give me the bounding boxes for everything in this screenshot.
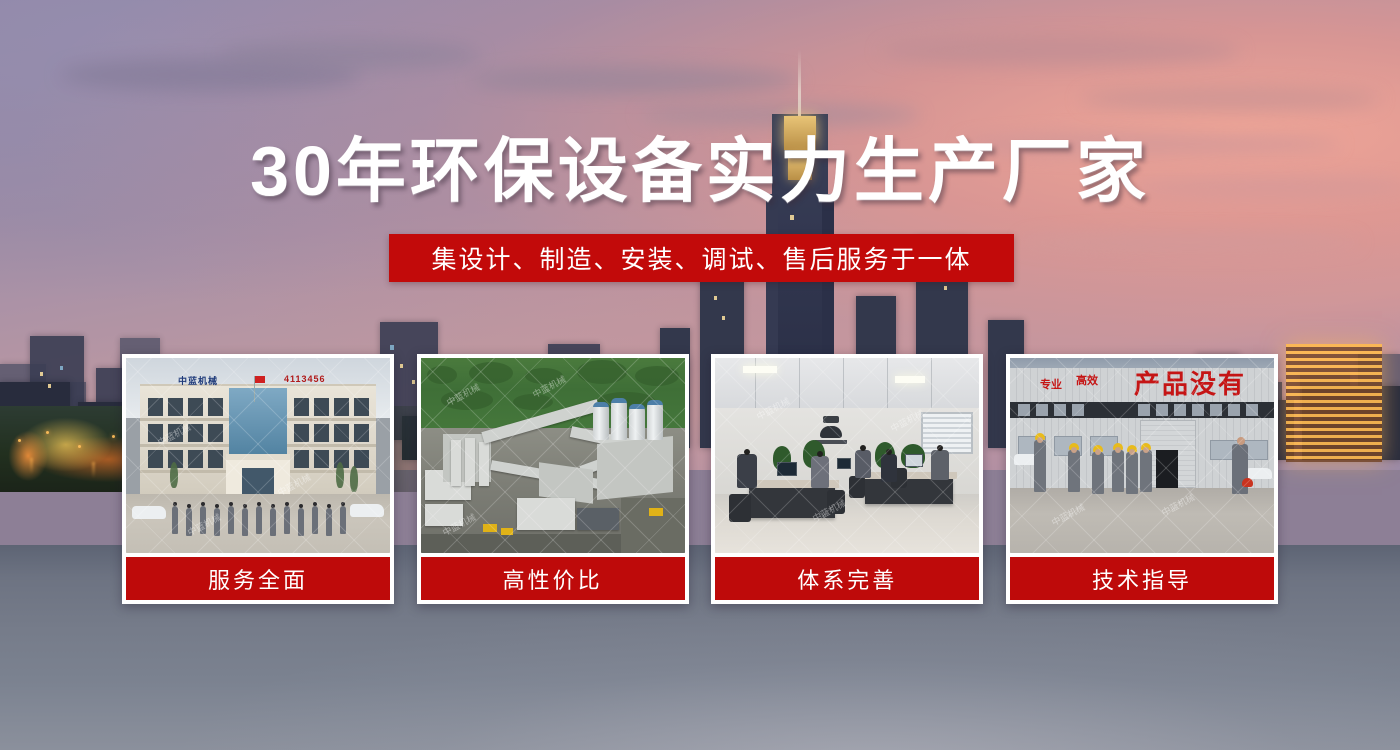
factory-sign-text: 产品没有 [1134,364,1246,401]
feature-card-value[interactable]: 中蓝机械 中蓝机械 中蓝机械 高性价比 [417,354,689,604]
promo-banner: 30年环保设备实力生产厂家 集设计、制造、安装、调试、售后服务于一体 [0,0,1400,750]
factory-slogan-2: 高效 [1076,372,1098,388]
window-blinds [921,412,973,454]
building-signage: 中蓝机械 [178,374,218,387]
subtitle-banner: 集设计、制造、安装、调试、售后服务于一体 [389,234,1014,282]
photo-industrial-plant-aerial: 中蓝机械 中蓝机械 中蓝机械 [421,358,685,553]
red-helmet [1242,478,1253,487]
building-phone-number: 4113456 [284,374,326,384]
card-caption: 服务全面 [126,557,390,600]
photo-workers-at-factory: 产品没有 专业 高效 [1010,358,1274,553]
photo-office-interior: 中蓝机械 中蓝机械 中蓝机械 [715,358,979,553]
feature-card-row: 中蓝机械 4113456 [122,354,1278,604]
page-title: 30年环保设备实力生产厂家 [0,128,1400,214]
illuminated-building [1286,344,1382,462]
feature-card-system[interactable]: 中蓝机械 中蓝机械 中蓝机械 体系完善 [711,354,983,604]
factory-slogan-1: 专业 [1040,376,1062,392]
card-caption: 高性价比 [421,557,685,600]
card-caption: 体系完善 [715,557,979,600]
card-caption: 技术指导 [1010,557,1274,600]
photo-headquarters-building: 中蓝机械 4113456 [126,358,390,553]
feature-card-training[interactable]: 产品没有 专业 高效 [1006,354,1278,604]
feature-card-service[interactable]: 中蓝机械 4113456 [122,354,394,604]
